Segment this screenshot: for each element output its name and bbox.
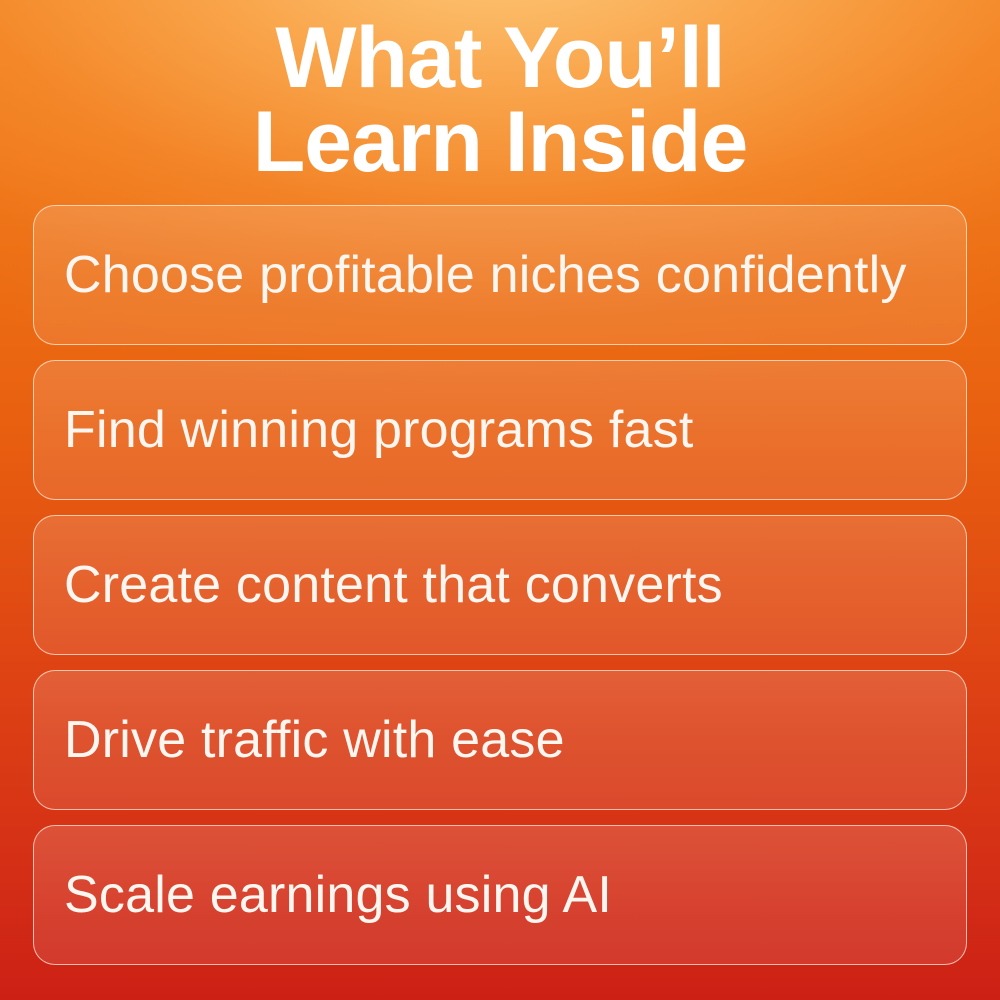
- list-item[interactable]: Scale earnings using AI: [33, 825, 967, 965]
- list-item-label: Scale earnings using AI: [34, 866, 636, 924]
- list-item[interactable]: Drive traffic with ease: [33, 670, 967, 810]
- list-item-label: Drive traffic with ease: [34, 711, 589, 769]
- list-item-label: Create content that converts: [34, 556, 747, 614]
- page-title: What You’ll Learn Inside: [0, 16, 1000, 184]
- list-item[interactable]: Find winning programs fast: [33, 360, 967, 500]
- benefits-list: Choose profitable niches confidently Fin…: [33, 205, 967, 965]
- list-item[interactable]: Choose profitable niches confidently: [33, 205, 967, 345]
- list-item-label: Choose profitable niches confidently: [34, 246, 931, 304]
- list-item-label: Find winning programs fast: [34, 401, 717, 459]
- poster-canvas: What You’ll Learn Inside Choose profitab…: [0, 0, 1000, 1000]
- list-item[interactable]: Create content that converts: [33, 515, 967, 655]
